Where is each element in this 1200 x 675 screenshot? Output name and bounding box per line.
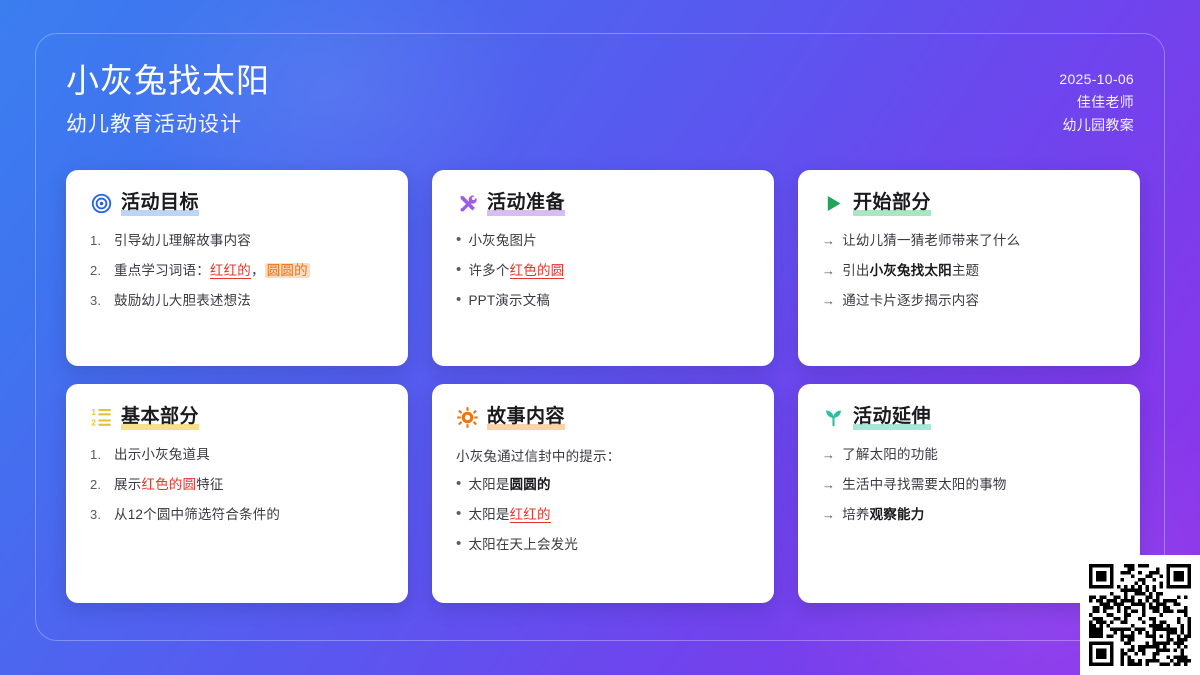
card-item-list: 1.引导幼儿理解故事内容2.重点学习词语：红红的，圆圆的3.鼓励幼儿大胆表述想法: [90, 231, 384, 312]
text-run-plain: 小灰兔图片: [468, 233, 537, 248]
meta-category: 幼儿园教案: [1059, 114, 1134, 137]
list-item-marker: •: [456, 476, 461, 491]
list-item-text: 出示小灰兔道具: [114, 445, 210, 466]
list-item: →引出小灰兔找太阳主题: [822, 261, 1116, 282]
svg-text:2: 2: [91, 418, 96, 427]
card-title-wrap: 开始部分: [853, 192, 931, 214]
text-run-plain: 太阳是: [468, 507, 509, 522]
list-item-text: 从12个圆中筛选符合条件的: [114, 505, 280, 526]
list-item-text: 通过卡片逐步揭示内容: [842, 291, 979, 312]
text-run-red: 红红的: [210, 263, 251, 279]
qr-code-icon: [1089, 564, 1191, 666]
text-run-bold: 圆圆的: [510, 477, 551, 492]
text-run-bold: 观察能力: [870, 507, 925, 522]
list-item-marker: 1.: [90, 231, 107, 251]
card-header: 活动准备: [456, 192, 750, 214]
list-item: •小灰兔图片: [456, 231, 750, 252]
card-story-content: 故事内容小灰兔通过信封中的提示：•太阳是圆圆的•太阳是红红的•太阳在天上会发光: [432, 384, 774, 603]
list-item-marker: 3.: [90, 291, 107, 311]
list-item: →让幼儿猜一猜老师带来了什么: [822, 231, 1116, 252]
svg-text:1: 1: [91, 407, 96, 416]
text-run-plain: 重点学习词语：: [114, 263, 210, 278]
list-item-text: 鼓励幼儿大胆表述想法: [114, 291, 251, 312]
list-item-text: 培养观察能力: [842, 505, 924, 526]
list-item-text: 引出小灰兔找太阳主题: [842, 261, 979, 282]
list-item-text: 太阳是圆圆的: [468, 475, 550, 496]
list-item: •太阳是红红的: [456, 505, 750, 526]
card-activity-preparation: 活动准备•小灰兔图片•许多个红色的圆•PPT演示文稿: [432, 170, 774, 366]
list-item-text: 了解太阳的功能: [842, 445, 938, 466]
card-header: 活动目标: [90, 192, 384, 214]
card-title-wrap: 活动准备: [487, 192, 565, 214]
sun-icon: [456, 406, 478, 428]
list-item-text: 重点学习词语：红红的，圆圆的: [114, 261, 310, 282]
text-run-plain: 特征: [196, 477, 223, 492]
list-item: 1.出示小灰兔道具: [90, 445, 384, 466]
list-item: •太阳在天上会发光: [456, 535, 750, 556]
numbered-list-icon: 1 2: [90, 406, 112, 428]
card-title: 活动延伸: [853, 406, 931, 429]
qr-code-container[interactable]: [1080, 555, 1200, 675]
card-item-list: 1.出示小灰兔道具2.展示红色的圆特征3.从12个圆中筛选符合条件的: [90, 445, 384, 526]
tools-icon: [456, 192, 478, 214]
list-item: →通过卡片逐步揭示内容: [822, 291, 1116, 312]
list-item-marker: •: [456, 292, 461, 307]
list-item: →了解太阳的功能: [822, 445, 1116, 466]
card-grid: 活动目标1.引导幼儿理解故事内容2.重点学习词语：红红的，圆圆的3.鼓励幼儿大胆…: [66, 170, 1140, 603]
text-run-plain: 引出: [842, 263, 869, 278]
text-run-plain: 引导幼儿理解故事内容: [114, 233, 251, 248]
slide-header: 小灰兔找太阳 幼儿教育活动设计 2025-10-06 佳佳老师 幼儿园教案: [66, 58, 1134, 144]
card-title-wrap: 故事内容: [487, 406, 565, 428]
card-title: 活动准备: [487, 192, 565, 215]
card-title: 故事内容: [487, 406, 565, 429]
text-run-plain: 许多个: [468, 263, 509, 278]
card-header: 故事内容: [456, 406, 750, 428]
list-item: 2.展示红色的圆特征: [90, 475, 384, 496]
list-item: →培养观察能力: [822, 505, 1116, 526]
text-run-plain: 培养: [842, 507, 869, 522]
list-item-marker: •: [456, 232, 461, 247]
list-item-text: PPT演示文稿: [468, 291, 550, 312]
card-title: 开始部分: [853, 192, 931, 215]
text-run-plain: 了解太阳的功能: [842, 447, 938, 462]
card-item-list: •太阳是圆圆的•太阳是红红的•太阳在天上会发光: [456, 475, 750, 556]
text-run-orange-hl: 圆圆的: [265, 263, 310, 278]
play-icon: [822, 192, 844, 214]
card-item-list: →让幼儿猜一猜老师带来了什么→引出小灰兔找太阳主题→通过卡片逐步揭示内容: [822, 231, 1116, 312]
meta-author: 佳佳老师: [1059, 91, 1134, 114]
text-run-plain: 展示: [114, 477, 141, 492]
list-item: 2.重点学习词语：红红的，圆圆的: [90, 261, 384, 282]
list-item-text: 太阳在天上会发光: [468, 535, 578, 556]
list-item-marker: →: [822, 445, 835, 465]
card-opening-section: 开始部分→让幼儿猜一猜老师带来了什么→引出小灰兔找太阳主题→通过卡片逐步揭示内容: [798, 170, 1140, 366]
list-item: •许多个红色的圆: [456, 261, 750, 282]
list-item-marker: •: [456, 536, 461, 551]
text-run-plain: 鼓励幼儿大胆表述想法: [114, 293, 251, 308]
list-item-text: 让幼儿猜一猜老师带来了什么: [842, 231, 1020, 252]
text-run-plain: 出示小灰兔道具: [114, 447, 210, 462]
title-block: 小灰兔找太阳 幼儿教育活动设计: [66, 58, 270, 138]
list-item-marker: 2.: [90, 475, 107, 495]
text-run-plain: 生活中寻找需要太阳的事物: [842, 477, 1006, 492]
list-item-marker: →: [822, 475, 835, 495]
card-item-list: →了解太阳的功能→生活中寻找需要太阳的事物→培养观察能力: [822, 445, 1116, 526]
text-run-plain: 主题: [952, 263, 979, 278]
card-title-wrap: 活动目标: [121, 192, 199, 214]
text-run-plain: 让幼儿猜一猜老师带来了什么: [842, 233, 1020, 248]
text-run-plain: 通过卡片逐步揭示内容: [842, 293, 979, 308]
list-item-marker: →: [822, 231, 835, 251]
card-header: 开始部分: [822, 192, 1116, 214]
list-item-text: 许多个红色的圆: [468, 261, 564, 282]
meta-date: 2025-10-06: [1059, 68, 1134, 91]
card-item-list: •小灰兔图片•许多个红色的圆•PPT演示文稿: [456, 231, 750, 312]
list-item-marker: →: [822, 291, 835, 311]
seedling-icon: [822, 406, 844, 428]
list-item: 1.引导幼儿理解故事内容: [90, 231, 384, 252]
list-item-marker: 1.: [90, 445, 107, 465]
text-run-red-plain: 红色的圆: [141, 477, 196, 492]
card-title: 活动目标: [121, 192, 199, 215]
list-item-text: 太阳是红红的: [468, 505, 550, 526]
text-run-plain: ，: [251, 263, 265, 278]
page-title: 小灰兔找太阳: [66, 60, 270, 101]
list-item-marker: →: [822, 261, 835, 281]
list-item: →生活中寻找需要太阳的事物: [822, 475, 1116, 496]
list-item-marker: •: [456, 506, 461, 521]
text-run-plain: PPT演示文稿: [468, 293, 550, 308]
text-run-plain: 从12个圆中筛选符合条件的: [114, 507, 280, 522]
text-run-plain: 太阳在天上会发光: [468, 537, 578, 552]
list-item-marker: •: [456, 262, 461, 277]
list-item: 3.鼓励幼儿大胆表述想法: [90, 291, 384, 312]
text-run-red: 红色的圆: [510, 263, 565, 279]
list-item-marker: 2.: [90, 261, 107, 281]
list-item-marker: 3.: [90, 505, 107, 525]
list-item-marker: →: [822, 505, 835, 525]
list-item-text: 生活中寻找需要太阳的事物: [842, 475, 1006, 496]
card-title-wrap: 活动延伸: [853, 406, 931, 428]
card-intro-text: 小灰兔通过信封中的提示：: [456, 445, 750, 465]
header-meta: 2025-10-06 佳佳老师 幼儿园教案: [1059, 58, 1134, 136]
card-title-wrap: 基本部分: [121, 406, 199, 428]
list-item: 3.从12个圆中筛选符合条件的: [90, 505, 384, 526]
list-item-text: 展示红色的圆特征: [114, 475, 224, 496]
text-run-plain: 太阳是: [468, 477, 509, 492]
card-activity-goals: 活动目标1.引导幼儿理解故事内容2.重点学习词语：红红的，圆圆的3.鼓励幼儿大胆…: [66, 170, 408, 366]
page-subtitle: 幼儿教育活动设计: [66, 108, 270, 138]
text-run-red: 红红的: [510, 507, 551, 523]
card-title: 基本部分: [121, 406, 199, 429]
card-header: 活动延伸: [822, 406, 1116, 428]
target-icon: [90, 192, 112, 214]
card-main-section: 1 2 基本部分1.出示小灰兔道具2.展示红色的圆特征3.从12个圆中筛选符合条…: [66, 384, 408, 603]
list-item-text: 引导幼儿理解故事内容: [114, 231, 251, 252]
card-header: 1 2 基本部分: [90, 406, 384, 428]
text-run-bold: 小灰兔找太阳: [870, 263, 952, 278]
list-item-text: 小灰兔图片: [468, 231, 537, 252]
list-item: •太阳是圆圆的: [456, 475, 750, 496]
list-item: •PPT演示文稿: [456, 291, 750, 312]
